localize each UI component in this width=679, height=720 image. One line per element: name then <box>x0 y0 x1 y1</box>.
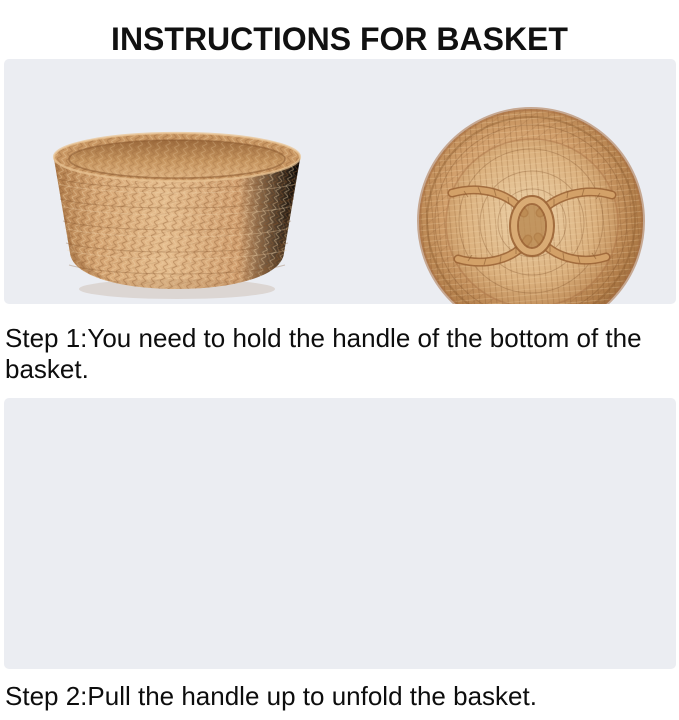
step-2-image-panel <box>4 398 676 669</box>
step-2-label: Step 2:Pull the handle up to unfold the … <box>5 681 673 712</box>
page-title: INSTRUCTIONS FOR BASKET <box>0 21 679 56</box>
basket-top-view-figure <box>406 107 656 304</box>
collapsed-basket-side-view-figure <box>32 103 322 299</box>
instruction-sheet: INSTRUCTIONS FOR BASKET <box>0 21 679 720</box>
step-1-image-panel <box>4 59 676 304</box>
step-1-label: Step 1:You need to hold the handle of th… <box>5 323 673 385</box>
